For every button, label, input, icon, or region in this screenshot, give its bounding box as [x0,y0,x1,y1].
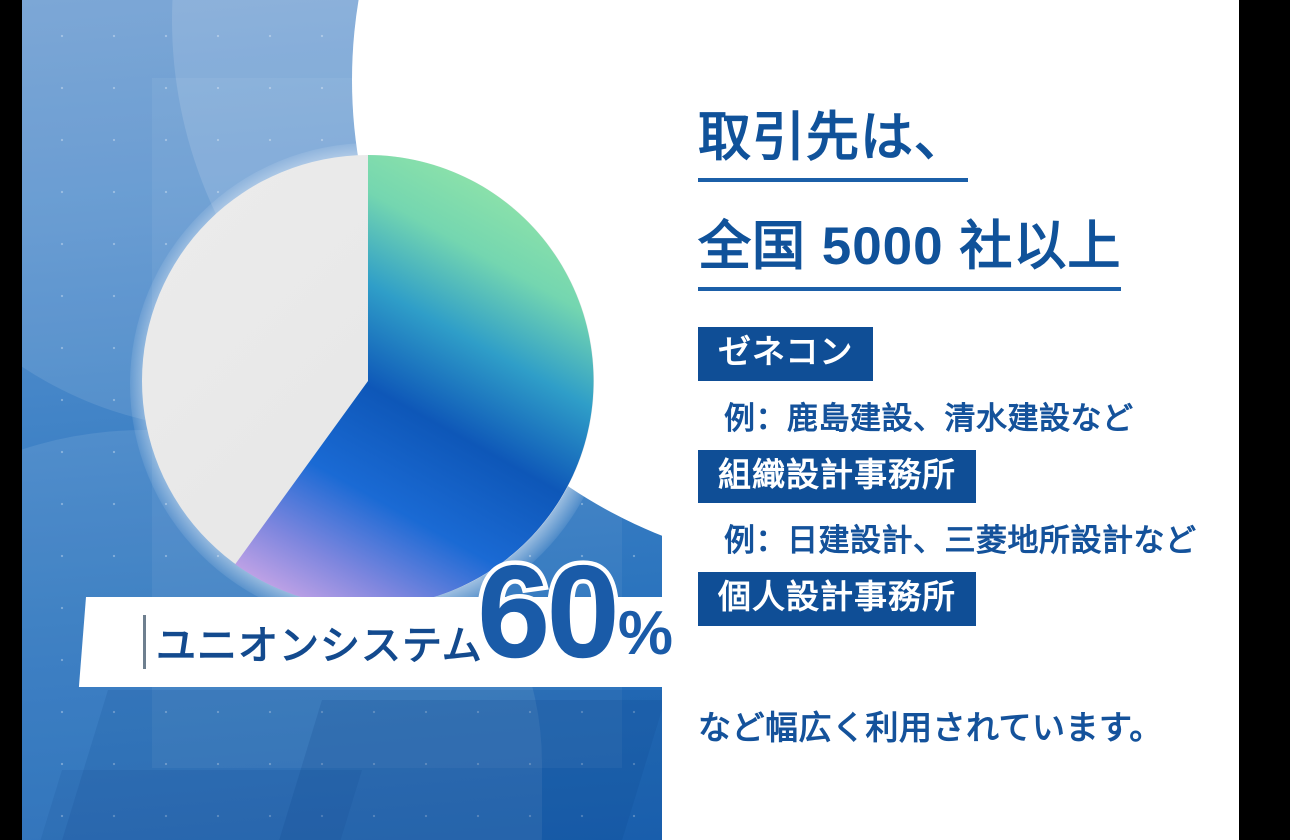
percent-sign: % [618,609,673,660]
headline-block: 取引先は、 全国 5000 社以上 [698,95,1218,291]
closing-text: など幅広く利用されています。 [698,701,1163,749]
headline-line-2: 全国 5000 社以上 [698,204,1121,291]
group-badge-design-firm: 組織設計事務所 [698,450,976,504]
group-example-general-contractor: 例：鹿島建設、清水建設など [724,393,1238,438]
headline-line-1: 取引先は、 [698,95,968,182]
content-column: 取引先は、 全国 5000 社以上 ゼネコン 例：鹿島建設、清水建設など 組織設… [698,0,1238,840]
group-item: 個人設計事務所 [698,572,1238,626]
slide-stage: ユニオンシステム 60 % 取引先は、 全国 5000 社以上 ゼネコン 例：鹿… [22,0,1239,840]
percent-number: 60 [477,558,616,666]
group-badge-general-contractor: ゼネコン [698,327,873,381]
group-example-design-firm: 例：日建設計、三菱地所設計など [724,515,1238,560]
group-list: ゼネコン 例：鹿島建設、清水建設など 組織設計事務所 例：日建設計、三菱地所設計… [698,327,1238,638]
slide-root: ユニオンシステム 60 % 取引先は、 全国 5000 社以上 ゼネコン 例：鹿… [0,0,1290,840]
group-item: ゼネコン 例：鹿島建設、清水建設など [698,327,1238,438]
percent-callout: 60 % [477,558,673,666]
decorative-swoosh-3 [22,770,362,840]
callout-label: ユニオンシステム [156,613,483,671]
group-badge-individual-office: 個人設計事務所 [698,572,976,626]
letterbox-right [1239,0,1290,840]
group-item: 組織設計事務所 例：日建設計、三菱地所設計など [698,450,1238,561]
letterbox-left [0,0,22,840]
callout-accent-bar [143,615,146,669]
